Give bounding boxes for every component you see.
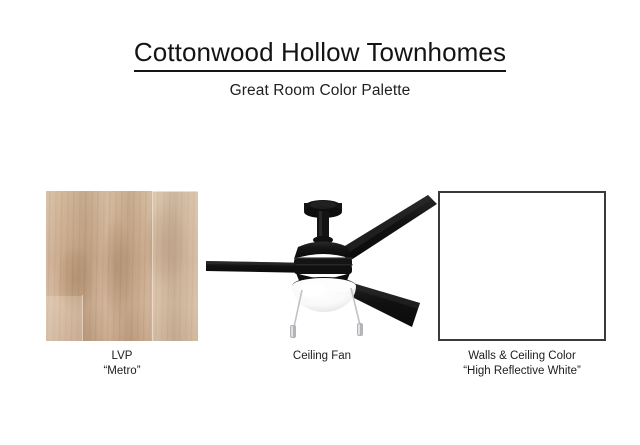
plank-seam bbox=[152, 191, 198, 192]
walls-ceiling-caption-line2: “High Reflective White” bbox=[392, 364, 640, 379]
white-paint-swatch bbox=[438, 191, 606, 341]
ceiling-fan-image bbox=[206, 191, 438, 341]
plank-panel bbox=[46, 296, 82, 341]
plank-panel bbox=[153, 191, 198, 341]
fan-blade-upper-right bbox=[340, 195, 437, 262]
page-title: Cottonwood Hollow Townhomes bbox=[134, 36, 506, 72]
lvp-caption-line2: “Metro” bbox=[0, 364, 252, 379]
plank-seam bbox=[152, 191, 153, 341]
palette-item-ceiling-fan[interactable]: Ceiling Fan bbox=[206, 191, 438, 341]
lvp-swatch-image bbox=[46, 191, 198, 341]
palette-row: LVP “Metro” bbox=[0, 191, 640, 391]
palette-board: Cottonwood Hollow Townhomes Great Room C… bbox=[0, 0, 640, 445]
walls-ceiling-caption-line1: Walls & Ceiling Color bbox=[392, 349, 640, 364]
palette-item-walls-ceiling[interactable]: Walls & Ceiling Color “High Reflective W… bbox=[438, 191, 606, 341]
palette-item-lvp[interactable]: LVP “Metro” bbox=[46, 191, 198, 341]
ceiling-fan-illustration bbox=[206, 191, 438, 341]
header: Cottonwood Hollow Townhomes Great Room C… bbox=[0, 36, 640, 101]
walls-ceiling-caption: Walls & Ceiling Color “High Reflective W… bbox=[392, 349, 640, 379]
plank-seam bbox=[82, 295, 83, 341]
page-subtitle: Great Room Color Palette bbox=[0, 81, 640, 101]
